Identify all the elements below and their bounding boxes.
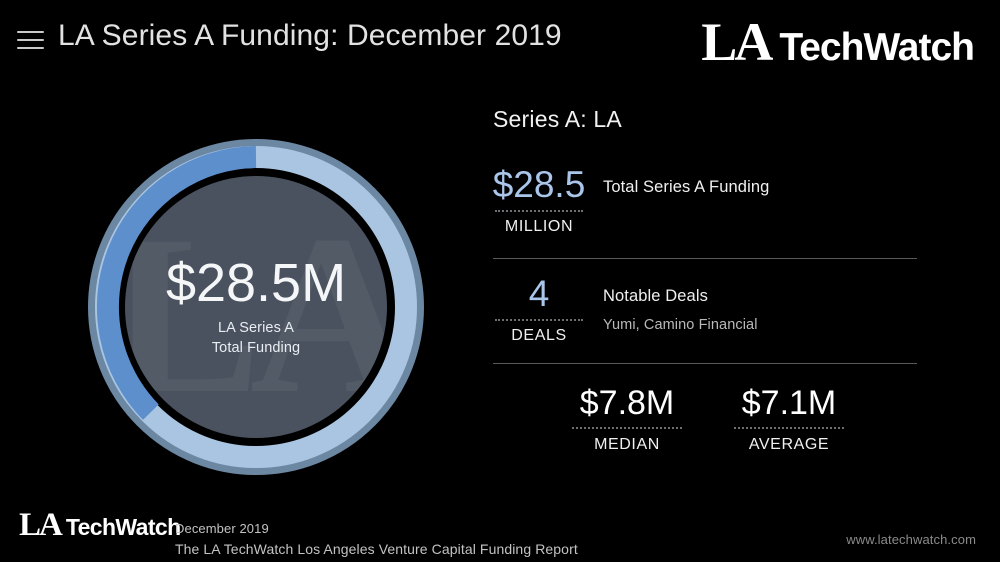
median-dotted-divider: [572, 427, 682, 429]
deals-dotted-divider: [495, 319, 583, 321]
deals-figure-block: 4 DEALS: [493, 275, 585, 345]
average-value: $7.1M: [742, 386, 837, 422]
footer-logo: LA TechWatch: [19, 511, 181, 541]
hamburger-bar-2: [17, 39, 44, 41]
page-footer: LA TechWatch December 2019 The LA TechWa…: [0, 502, 1000, 562]
panel-title: Series A: LA: [493, 106, 923, 133]
average-block: $7.1M AVERAGE: [724, 386, 854, 455]
footer-website-url[interactable]: www.latechwatch.com: [846, 532, 976, 547]
funding-description-block: Total Series A Funding: [585, 166, 769, 197]
median-label: MEDIAN: [594, 436, 660, 454]
divider-top: [493, 258, 917, 259]
funding-amount: $28.5: [493, 166, 586, 205]
divider-bottom: [493, 363, 917, 364]
median-block: $7.8M MEDIAN: [562, 386, 692, 455]
logo-la-text: LA: [701, 18, 770, 67]
logo-techwatch-text: TechWatch: [779, 30, 974, 65]
average-dotted-divider: [734, 427, 844, 429]
page-header: LA Series A Funding: December 2019 LA Te…: [0, 0, 1000, 88]
funding-figure-block: $28.5 MILLION: [493, 166, 585, 236]
footer-text-block: December 2019 The LA TechWatch Los Angel…: [175, 519, 578, 560]
stat-row-deals: 4 DEALS Notable Deals Yumi, Camino Finan…: [493, 275, 923, 345]
stat-row-funding: $28.5 MILLION Total Series A Funding: [493, 166, 923, 236]
deals-description-block: Notable Deals Yumi, Camino Financial: [585, 275, 758, 333]
page-title: LA Series A Funding: December 2019: [58, 19, 562, 53]
funding-dotted-divider: [495, 210, 583, 212]
funding-unit: MILLION: [505, 218, 573, 236]
donut-chart: LA $28.5M LA Series A Total Funding: [88, 139, 424, 475]
footer-date: December 2019: [175, 519, 578, 539]
deals-unit: DEALS: [511, 327, 566, 345]
header-logo: LA TechWatch: [701, 18, 974, 67]
hamburger-bar-1: [17, 31, 44, 33]
deals-companies: Yumi, Camino Financial: [603, 317, 758, 333]
footer-report-title: The LA TechWatch Los Angeles Venture Cap…: [175, 539, 578, 560]
deals-count: 4: [529, 275, 550, 314]
median-value: $7.8M: [580, 386, 675, 422]
donut-chart-svg: LA: [88, 139, 424, 475]
stats-panel: Series A: LA $28.5 MILLION Total Series …: [493, 106, 923, 454]
stat-row-median-average: $7.8M MEDIAN $7.1M AVERAGE: [493, 386, 923, 455]
footer-logo-techwatch-text: TechWatch: [66, 517, 181, 538]
hamburger-menu-icon[interactable]: [17, 26, 47, 54]
funding-description: Total Series A Funding: [603, 178, 769, 197]
hamburger-bar-3: [17, 47, 44, 49]
average-label: AVERAGE: [749, 436, 829, 454]
footer-logo-la-text: LA: [19, 511, 61, 541]
deals-description: Notable Deals: [603, 287, 758, 306]
